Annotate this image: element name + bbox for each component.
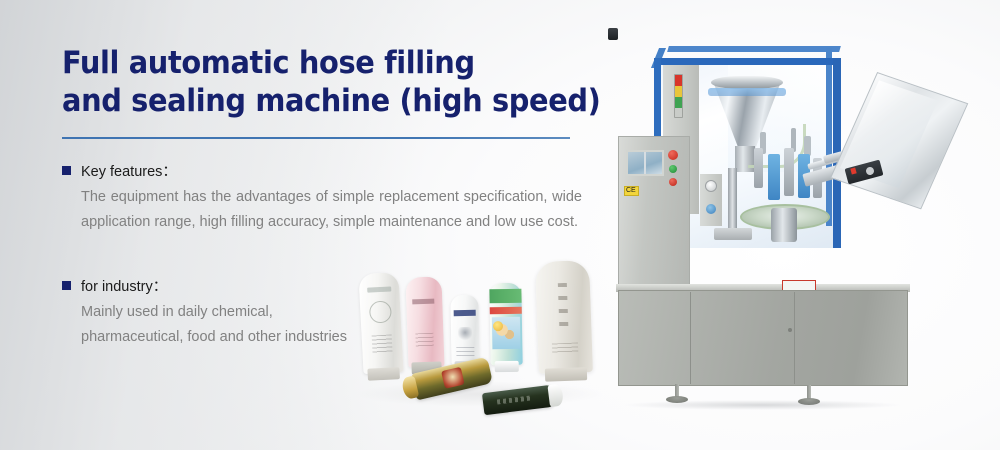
- feature-heading: Key features：: [62, 160, 582, 181]
- frame-top-rail: [654, 58, 840, 65]
- sunscreen-tube: [489, 283, 522, 366]
- touchscreen-divider: [644, 152, 646, 174]
- feature-for-industry: for industry： Mainly used in daily chemi…: [62, 275, 352, 350]
- feature-heading: for industry：: [62, 275, 352, 296]
- page-title-line-1: Full automatic hose filling: [62, 44, 555, 82]
- turntable-hub: [771, 208, 797, 242]
- stack-light-icon: [674, 74, 683, 118]
- feature-body-text: Mainly used in daily chemical, pharmaceu…: [62, 300, 352, 350]
- pressure-gauge-icon: [705, 180, 717, 192]
- cabinet-door-seam: [794, 292, 795, 384]
- pink-cream-tube: [405, 276, 444, 367]
- feature-heading-label: for industry：: [81, 275, 167, 296]
- small-white-tube: [450, 295, 479, 365]
- feature-key-features: Key features： The equipment has the adva…: [62, 160, 582, 235]
- large-beige-tube: [535, 260, 593, 374]
- hopper-band: [708, 88, 786, 96]
- stainless-cabinet-doors: [618, 290, 908, 386]
- headline-block: Full automatic hose filling and sealing …: [62, 44, 592, 120]
- green-start-button: [669, 165, 677, 173]
- square-bullet-icon: [62, 166, 71, 175]
- regulator-knob-icon: [706, 204, 716, 214]
- sealing-station: [754, 148, 763, 188]
- feature-body-text: The equipment has the advantages of simp…: [62, 185, 582, 235]
- blue-cylinder: [768, 154, 780, 200]
- cabinet-door-seam: [690, 292, 691, 384]
- red-stop-button: [669, 178, 677, 186]
- filling-nozzle: [728, 168, 737, 232]
- cosmetic-tube-samples: [345, 255, 625, 425]
- leveling-foot-stem: [807, 385, 811, 399]
- product-banner: Full automatic hose filling and sealing …: [0, 0, 1000, 450]
- frame-top-back-rail: [667, 46, 841, 52]
- feature-heading-label: Key features：: [81, 160, 177, 181]
- ce-warning-sticker: [624, 186, 639, 196]
- frame-back-right-post: [826, 48, 832, 226]
- hose-filling-sealing-machine-photo: [608, 28, 928, 376]
- black-selector-switch: [608, 28, 618, 40]
- emergency-stop-button: [668, 150, 678, 160]
- square-bullet-icon: [62, 281, 71, 290]
- sealing-station: [784, 148, 794, 196]
- page-title-line-2: and sealing machine (high speed): [62, 82, 555, 120]
- white-cream-tube: [358, 272, 403, 374]
- nozzle-base: [714, 228, 752, 240]
- title-divider: [62, 137, 570, 139]
- machine-arm: [804, 136, 811, 156]
- machine-shadow: [622, 400, 902, 410]
- cabinet-door-lock: [788, 328, 792, 332]
